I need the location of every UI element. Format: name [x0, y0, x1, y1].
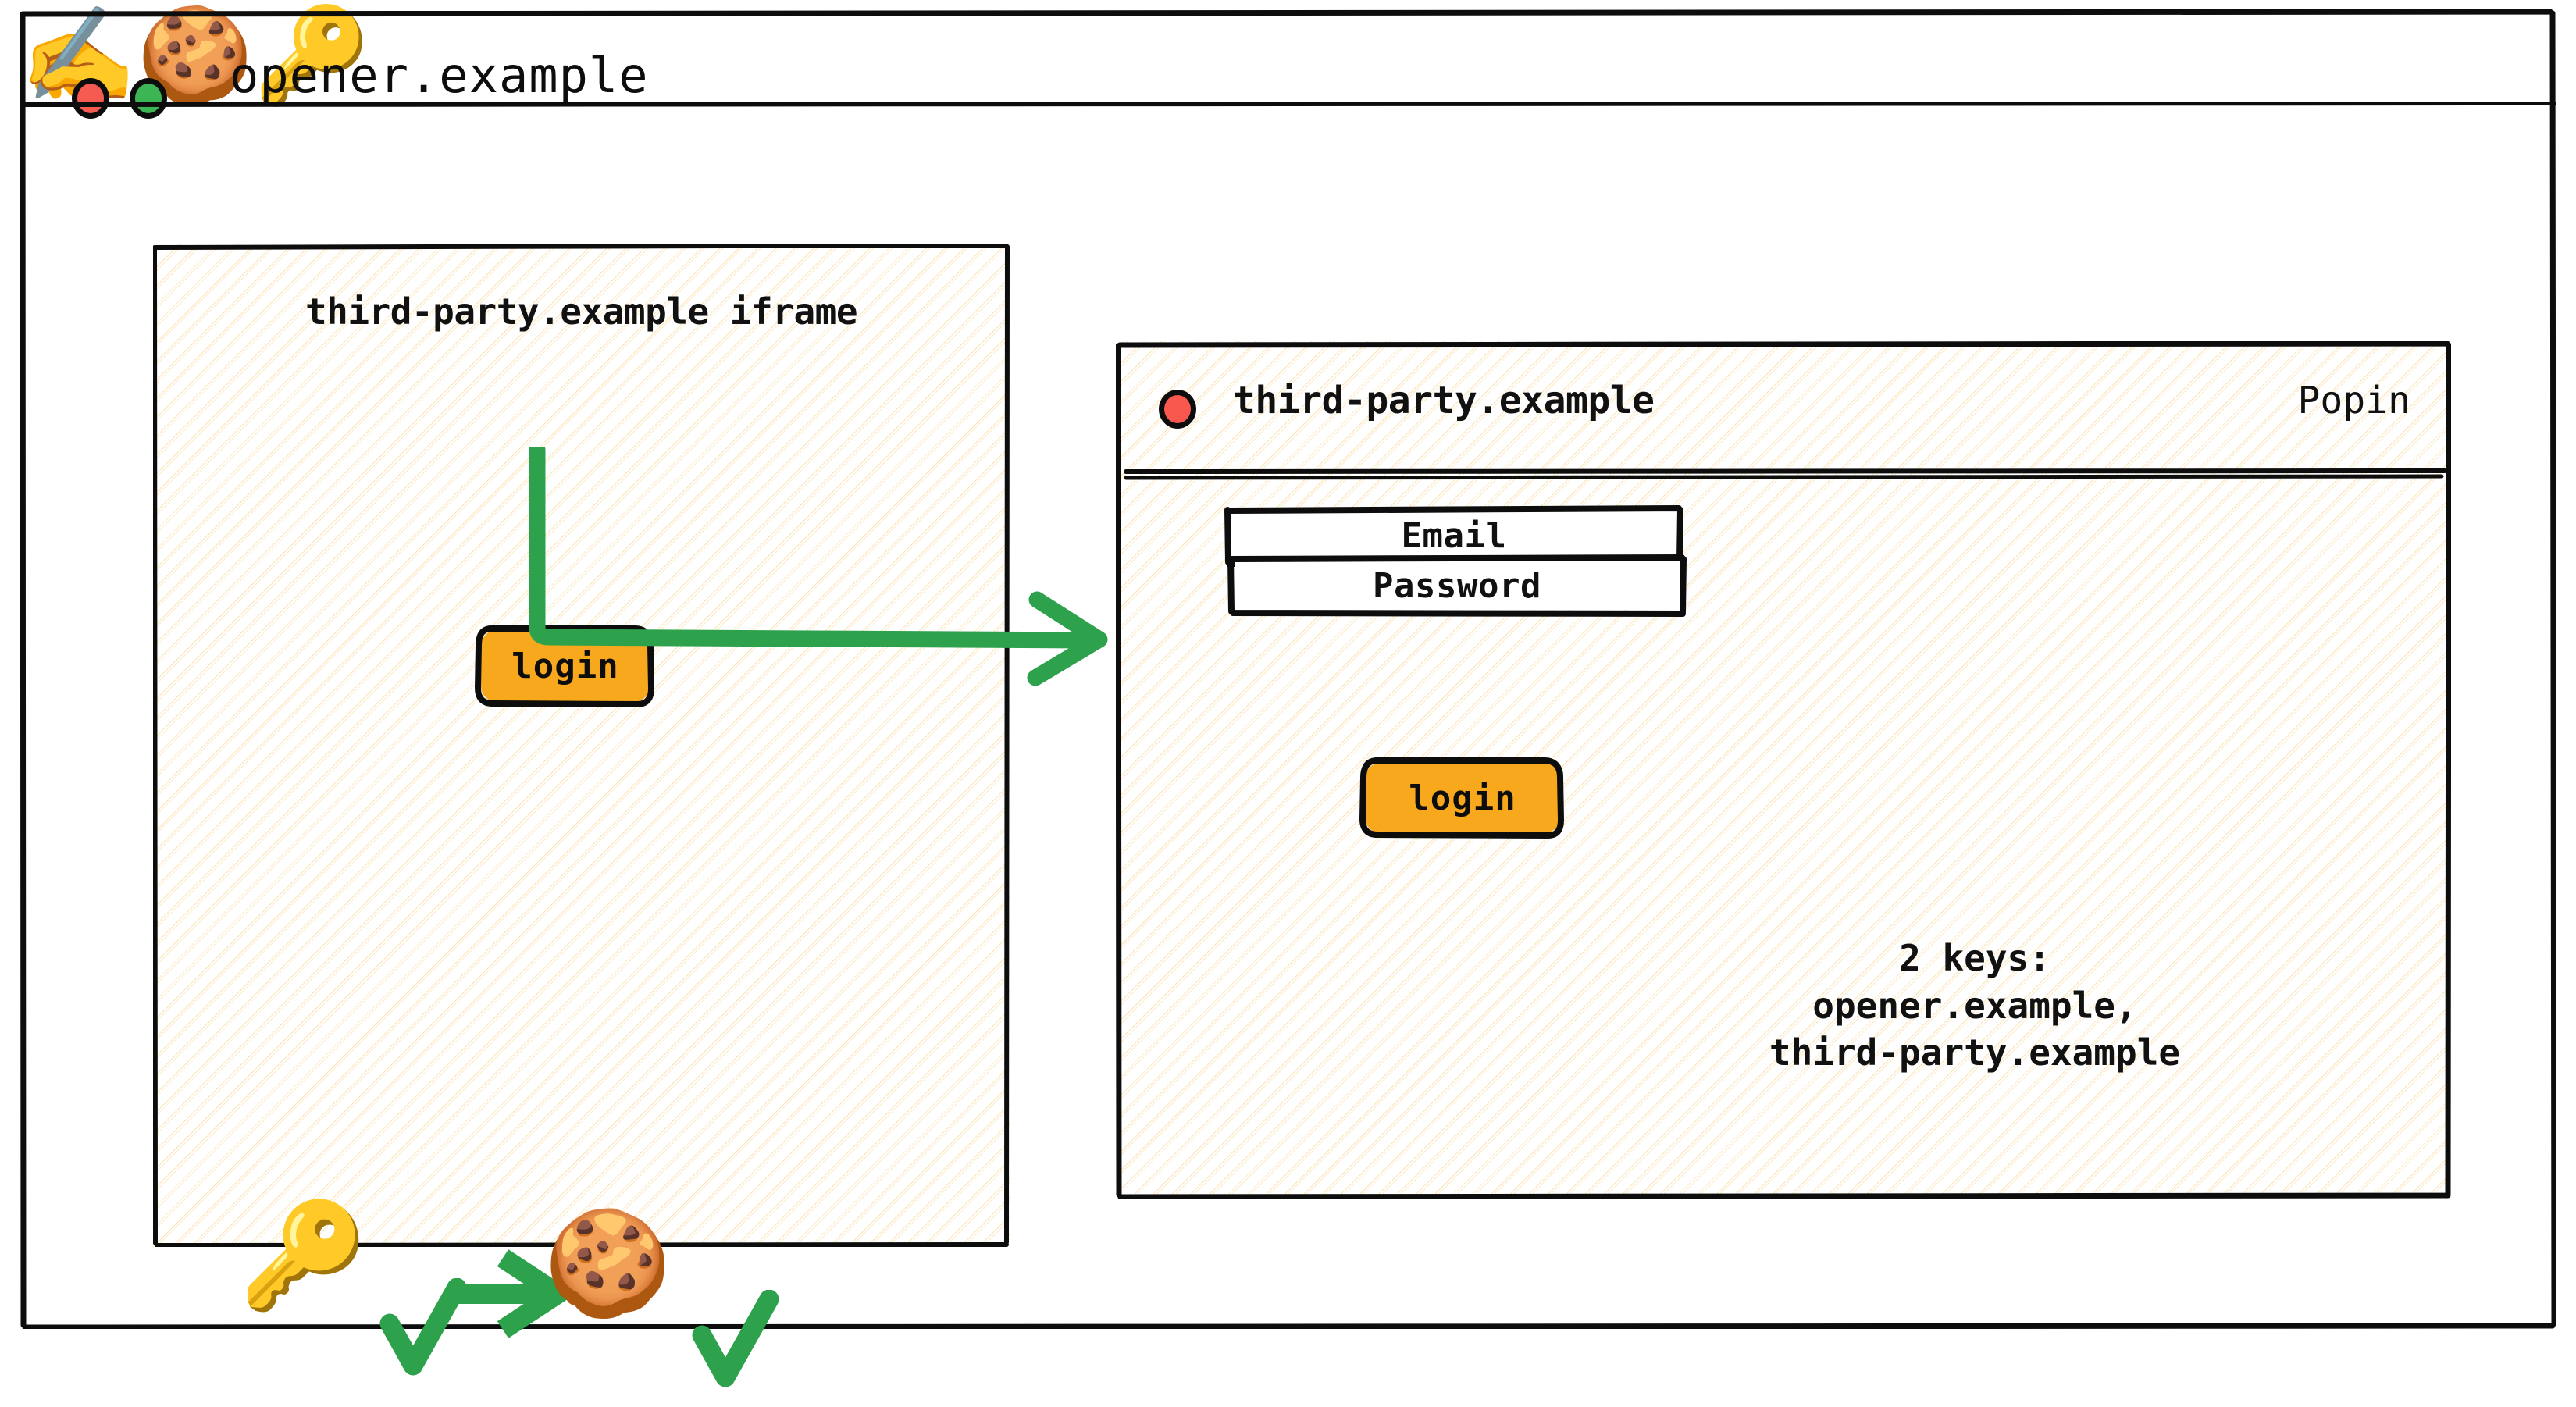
- popup-kind-label: Popin: [2298, 379, 2411, 422]
- titlebar-divider: [20, 97, 2556, 103]
- iframe-login-button[interactable]: login: [481, 630, 650, 702]
- key-icon: 🔑: [239, 1204, 367, 1307]
- iframe-panel-title: third-party.example iframe: [153, 290, 1010, 333]
- cookie-icon: 🍪: [543, 1212, 672, 1315]
- popup-login-button-label: login: [1409, 778, 1516, 818]
- keys-summary-line-2: third-party.example: [1635, 1029, 2314, 1077]
- iframe-login-button-label: login: [511, 647, 618, 686]
- email-field-label: Email: [1402, 516, 1507, 556]
- iframe-panel-border: [153, 244, 1010, 1247]
- popup-close-dot[interactable]: [1159, 390, 1196, 429]
- third-party-iframe-panel: third-party.example iframe login 🔑 🍪: [153, 244, 1010, 1247]
- popup-header-divider: [1124, 468, 2447, 481]
- popup-title: third-party.example: [1233, 379, 1655, 422]
- password-field[interactable]: Password: [1235, 561, 1680, 610]
- popup-login-button[interactable]: login: [1365, 763, 1560, 833]
- email-field[interactable]: Email: [1231, 511, 1676, 560]
- browser-titlebar: opener.example: [20, 9, 2556, 97]
- cookie-check-icon: [688, 1290, 782, 1399]
- keys-summary: 2 keys: opener.example, third-party.exam…: [1635, 935, 2314, 1077]
- browser-window: opener.example third-party.example ifram…: [20, 9, 2556, 1329]
- keys-summary-line-1: opener.example,: [1635, 982, 2314, 1030]
- window-title: opener.example: [230, 52, 649, 100]
- keys-summary-heading: 2 keys:: [1635, 935, 2314, 982]
- password-field-label: Password: [1373, 566, 1541, 606]
- iframe-storage-row: 🔑 🍪: [231, 1204, 934, 1407]
